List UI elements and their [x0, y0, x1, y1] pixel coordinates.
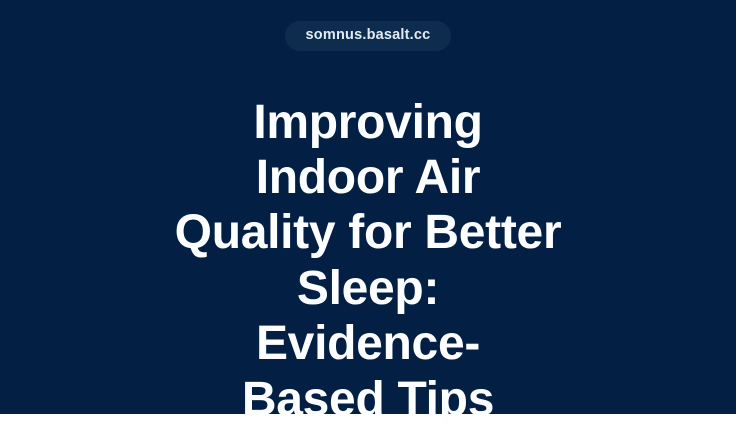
page-title: Improving Indoor Air Quality for Better … — [142, 95, 594, 427]
page-title-line-1: Improving Indoor Air — [142, 95, 594, 206]
page-title-line-2: Quality for Better — [142, 205, 594, 260]
page-title-line-3: Sleep: — [142, 261, 594, 316]
social-share-card: somnus.basalt.cc Improving Indoor Air Qu… — [0, 0, 736, 414]
title-block: Improving Indoor Air Quality for Better … — [142, 95, 594, 427]
site-domain-badge: somnus.basalt.cc — [285, 21, 452, 51]
page-title-line-4: Evidence-Based Tips — [142, 316, 594, 427]
